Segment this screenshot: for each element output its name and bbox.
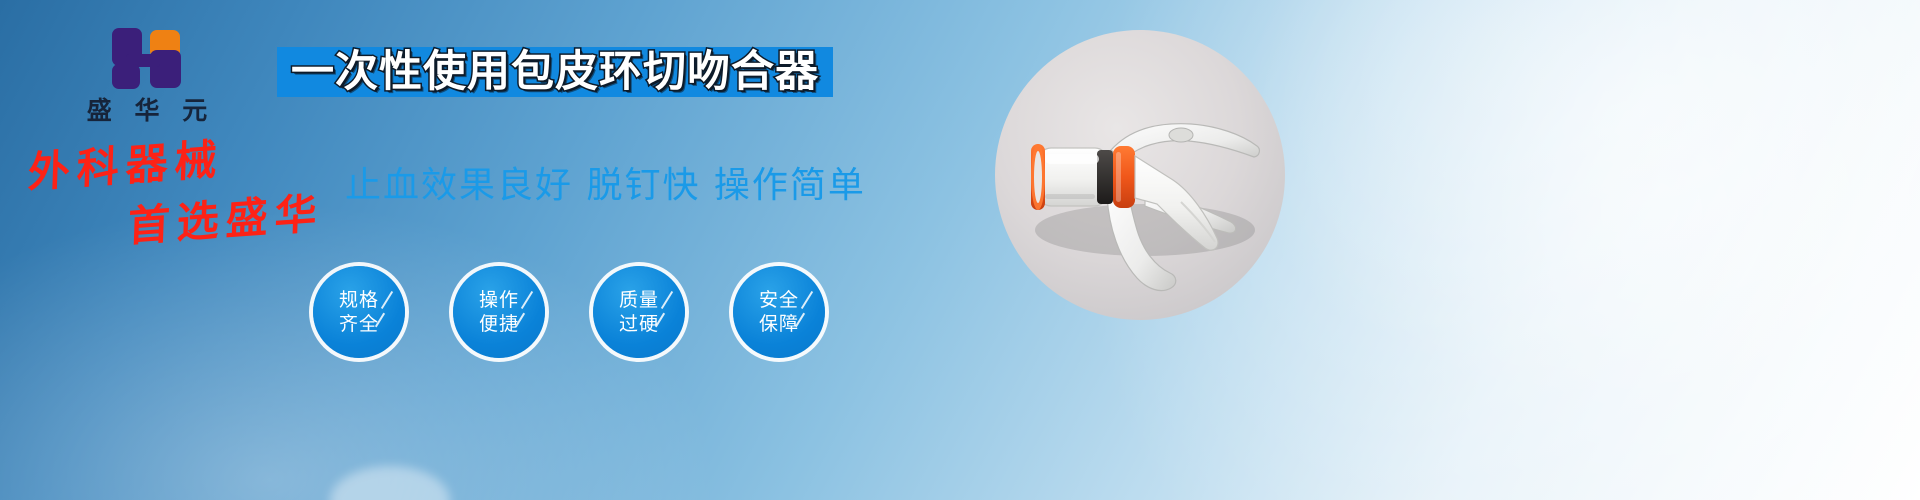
feature-badge-safety[interactable]: 安全 保障 <box>733 266 825 358</box>
product-photo <box>995 30 1285 320</box>
feature-badge-line-2: 保障 <box>759 312 799 336</box>
feature-badge-line-1: 规格 <box>339 288 379 312</box>
page-title: 一次性使用包皮环切吻合器 <box>291 51 819 94</box>
feature-badge-line-2: 过硬 <box>619 312 659 336</box>
slash-accent-icon <box>801 291 813 309</box>
logo-mark-icon <box>110 28 184 90</box>
brand-name: 盛 华 元 <box>62 98 232 123</box>
feature-badge-specs[interactable]: 规格 齐全 <box>313 266 405 358</box>
slash-accent-icon <box>521 291 533 309</box>
feature-badge-operation[interactable]: 操作 便捷 <box>453 266 545 358</box>
circumcision-stapler-device-image <box>995 30 1285 320</box>
feature-badge-line-1: 操作 <box>479 288 519 312</box>
calligraphy-line-1: 外科器械 <box>27 138 224 194</box>
slash-accent-icon <box>661 291 673 309</box>
calligraphy-line-2: 首选盛华 <box>127 192 324 248</box>
feature-badge-line-2: 便捷 <box>479 312 519 336</box>
feature-badge-line-1: 安全 <box>759 288 799 312</box>
subtitle: 止血效果良好 脱钉快 操作简单 <box>345 164 866 207</box>
slash-accent-icon <box>381 291 393 309</box>
feature-badge-list: 规格 齐全 操作 便捷 质量 过硬 安全 保障 <box>313 266 825 358</box>
background-glow-top-right <box>1240 0 1920 420</box>
brand-logo: 盛 华 元 <box>62 28 232 128</box>
product-title-bar: 一次性使用包皮环切吻合器 <box>277 47 833 97</box>
promo-banner: 盛 华 元 一次性使用包皮环切吻合器 外科器械 首选盛华 止血效果良好 脱钉快 … <box>0 0 1920 500</box>
decorative-blur-shape <box>330 466 450 500</box>
calligraphy-slogan: 外科器械 首选盛华 <box>20 152 350 262</box>
logo-square-purple-bottomleft <box>112 64 140 89</box>
feature-badge-line-1: 质量 <box>619 288 659 312</box>
feature-badge-line-2: 齐全 <box>339 312 379 336</box>
feature-badge-quality[interactable]: 质量 过硬 <box>593 266 685 358</box>
